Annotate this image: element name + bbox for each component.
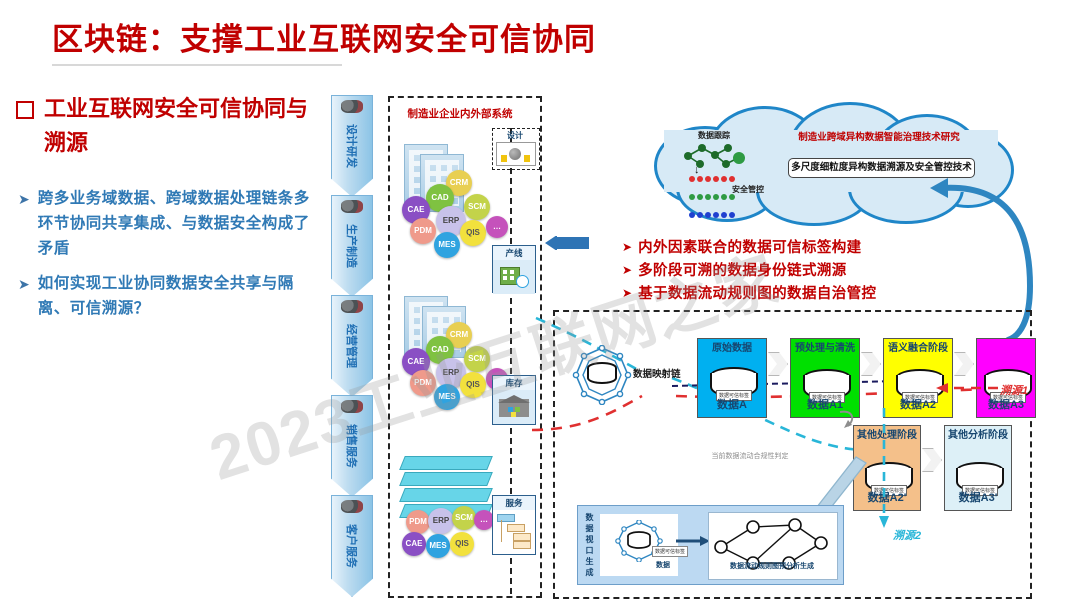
curl-arrow-icon	[838, 408, 860, 430]
ribbon-item-4[interactable]: 客户服务	[331, 495, 373, 597]
system-bubble-scm[interactable]: SCM	[464, 194, 490, 220]
research-cloud: 数据跟踪 ↓ 安全管控 制造业跨域异构数据智能治理技术研究 多尺度细粒度异构数据…	[636, 104, 1026, 222]
system-bubble-pdm[interactable]: PDM	[406, 510, 430, 534]
stage-title: 预处理与清洗	[791, 339, 859, 355]
system-bubble-mes[interactable]: MES	[434, 232, 460, 258]
rule-graph-panel: 数据视口生成 数据 数据可信标签	[577, 505, 844, 585]
pipeline-stage-2[interactable]: 语义融合阶段 数据可信标签 数据A2	[883, 338, 953, 418]
gear-icon	[341, 400, 363, 413]
lead-statement: 工业互联网安全可信协同与溯源	[16, 92, 316, 160]
station-label-inventory: 库存	[493, 376, 535, 390]
arrow-bullet-icon: ➤	[622, 263, 632, 277]
database-icon: 数据可信标签	[803, 369, 847, 399]
panel-node-area: 数据	[600, 514, 678, 576]
square-bullet-icon	[16, 101, 34, 119]
production-line-icon	[493, 260, 535, 294]
cloud-label-tracking: 数据跟踪	[698, 130, 730, 141]
system-bubble-scm[interactable]: SCM	[452, 506, 476, 530]
pipeline-stage-0[interactable]: 原始数据 数据可信标签 数据A	[697, 338, 767, 418]
list-item: ➤多阶段可溯的数据身份链式溯源	[622, 259, 876, 280]
sub-points-list: ➤ 跨多业务域数据、跨域数据处理链条多环节协同共享集成、与数据安全构成了矛盾 ➤…	[18, 186, 318, 331]
panel-caption: 数据流动规则图预分析生成	[708, 561, 836, 571]
arrow-bullet-icon: ➤	[622, 286, 632, 300]
gear-icon	[341, 300, 363, 313]
server-rack-icon	[399, 456, 493, 470]
ribbon-item-0[interactable]: 设计研发	[331, 95, 373, 197]
ribbon-label: 销售服务	[344, 424, 360, 468]
system-bubble-qis[interactable]: QIS	[460, 372, 486, 398]
station-inventory[interactable]: 库存	[492, 375, 536, 425]
stage-data-label: 数据A2	[884, 396, 952, 412]
list-item: ➤基于数据流动规则图的数据自治管控	[622, 282, 876, 303]
warehouse-icon	[493, 390, 535, 424]
pipeline-stage-1[interactable]: 预处理与清洗 数据可信标签 数据A1	[790, 338, 860, 418]
ribbon-item-1[interactable]: 生产制造	[331, 195, 373, 297]
arrow-bullet-icon: ➤	[18, 276, 30, 293]
ribbon-item-3[interactable]: 销售服务	[331, 395, 373, 497]
sub-point-text: 如何实现工业协同数据安全共享与隔离、可信溯源？	[38, 271, 318, 321]
ribbon-label: 客户服务	[344, 524, 360, 568]
stage-data-label: 数据A	[698, 396, 766, 412]
system-bubble-cae[interactable]: CAE	[402, 532, 426, 556]
security-matrix-icon	[688, 170, 736, 224]
inbound-arrow-icon	[545, 236, 589, 250]
stage-data-label: 数据A3'	[945, 489, 1011, 505]
stage-data-label: 数据A3	[977, 396, 1035, 412]
system-bubble-other[interactable]: …	[486, 216, 508, 238]
station-label-service: 服务	[493, 496, 535, 510]
ribbon-label: 经营管理	[344, 324, 360, 368]
red-bullet-text: 内外因素联合的数据可信标签构建	[638, 236, 862, 257]
station-service[interactable]: 服务	[492, 495, 536, 555]
list-item: ➤ 如何实现工业协同数据安全共享与隔离、可信溯源？	[18, 271, 318, 321]
sub-point-text: 跨多业务域数据、跨域数据处理链条多环节协同共享集成、与数据安全构成了矛盾	[38, 186, 318, 261]
lead-text: 工业互联网安全可信协同与溯源	[44, 92, 316, 160]
chain-label: 数据映射链	[633, 366, 681, 380]
blockchain-node-icon[interactable]	[572, 345, 632, 405]
gear-icon	[341, 100, 363, 113]
stage-title	[977, 339, 1035, 343]
panel-vertical-label: 数据视口生成	[583, 512, 596, 578]
pipeline-stage-3[interactable]: 数据可信标签 数据A3	[976, 338, 1036, 418]
database-icon: 数据可信标签	[710, 367, 754, 397]
system-bubble-pdm[interactable]: PDM	[410, 370, 436, 396]
cloud-title: 制造业跨域异构数据智能治理技术研究	[764, 132, 994, 144]
panel-arrow-icon	[676, 534, 710, 546]
service-tree-icon	[493, 510, 535, 554]
list-item: ➤ 跨多业务域数据、跨域数据处理链条多环节协同共享集成、与数据安全构成了矛盾	[18, 186, 318, 261]
system-bubble-scm[interactable]: SCM	[464, 346, 490, 372]
gear-icon	[341, 500, 363, 513]
red-bullet-text: 基于数据流动规则图的数据自治管控	[638, 282, 876, 303]
trace-label-2: 溯源2	[893, 527, 921, 543]
server-rack-icon	[399, 488, 493, 502]
page-title: 区块链：支撑工业互联网安全可信协同	[52, 14, 692, 59]
title-divider	[52, 64, 342, 66]
pipeline-branch-1[interactable]: 其他分析阶段 数据可信标签 数据A3'	[944, 425, 1012, 511]
ribbon-label: 设计研发	[344, 124, 360, 168]
system-bubble-mes[interactable]: MES	[434, 384, 460, 410]
database-icon: 数据可信标签	[896, 369, 940, 399]
red-bullets-list: ➤内外因素联合的数据可信标签构建 ➤多阶段可溯的数据身份链式溯源 ➤基于数据流动…	[622, 236, 876, 305]
arrow-bullet-icon: ➤	[622, 240, 632, 254]
arrow-bullet-icon: ➤	[18, 191, 30, 208]
system-bubble-pdm[interactable]: PDM	[410, 218, 436, 244]
lifecycle-ribbon: 设计研发 生产制造 经营管理 销售服务 客户服务	[331, 95, 371, 595]
panel-node-label: 数据	[646, 560, 680, 570]
list-item: ➤内外因素联合的数据可信标签构建	[622, 236, 876, 257]
panel-mid-label: 数据可信标签	[652, 546, 688, 557]
red-bullet-text: 多阶段可溯的数据身份链式溯源	[638, 259, 847, 280]
database-icon: 数据可信标签	[956, 462, 1000, 492]
stage-title: 其他分析阶段	[945, 426, 1011, 442]
stage-title: 原始数据	[698, 339, 766, 355]
ribbon-item-2[interactable]: 经营管理	[331, 295, 373, 397]
cloud-tech-box: 多尺度细粒度异构数据溯源及安全管控技术	[788, 158, 975, 178]
station-production[interactable]: 产线	[492, 245, 536, 293]
stage-title: 语义融合阶段	[884, 339, 952, 355]
cloud-label-security: 安全管控	[732, 184, 764, 195]
gear-icon	[341, 200, 363, 213]
station-label-production: 产线	[493, 246, 535, 260]
system-bubble-mes[interactable]: MES	[426, 534, 450, 558]
stage-title: 其他处理阶段	[854, 426, 920, 442]
station-design-thumb	[496, 142, 536, 166]
enterprise-title: 制造业企业内外部系统	[396, 108, 524, 121]
ribbon-label: 生产制造	[344, 224, 360, 268]
system-bubble-other[interactable]: …	[474, 510, 494, 530]
trace-label-1: 溯源1	[1000, 382, 1028, 398]
system-bubble-erp[interactable]: ERP	[428, 508, 454, 534]
system-bubble-qis[interactable]: QIS	[450, 532, 474, 556]
station-label-design: 设计	[492, 130, 538, 141]
system-bubble-qis[interactable]: QIS	[460, 220, 486, 246]
server-rack-icon	[399, 472, 493, 486]
compliance-note: 当前数据流动合规性判定	[710, 452, 790, 461]
